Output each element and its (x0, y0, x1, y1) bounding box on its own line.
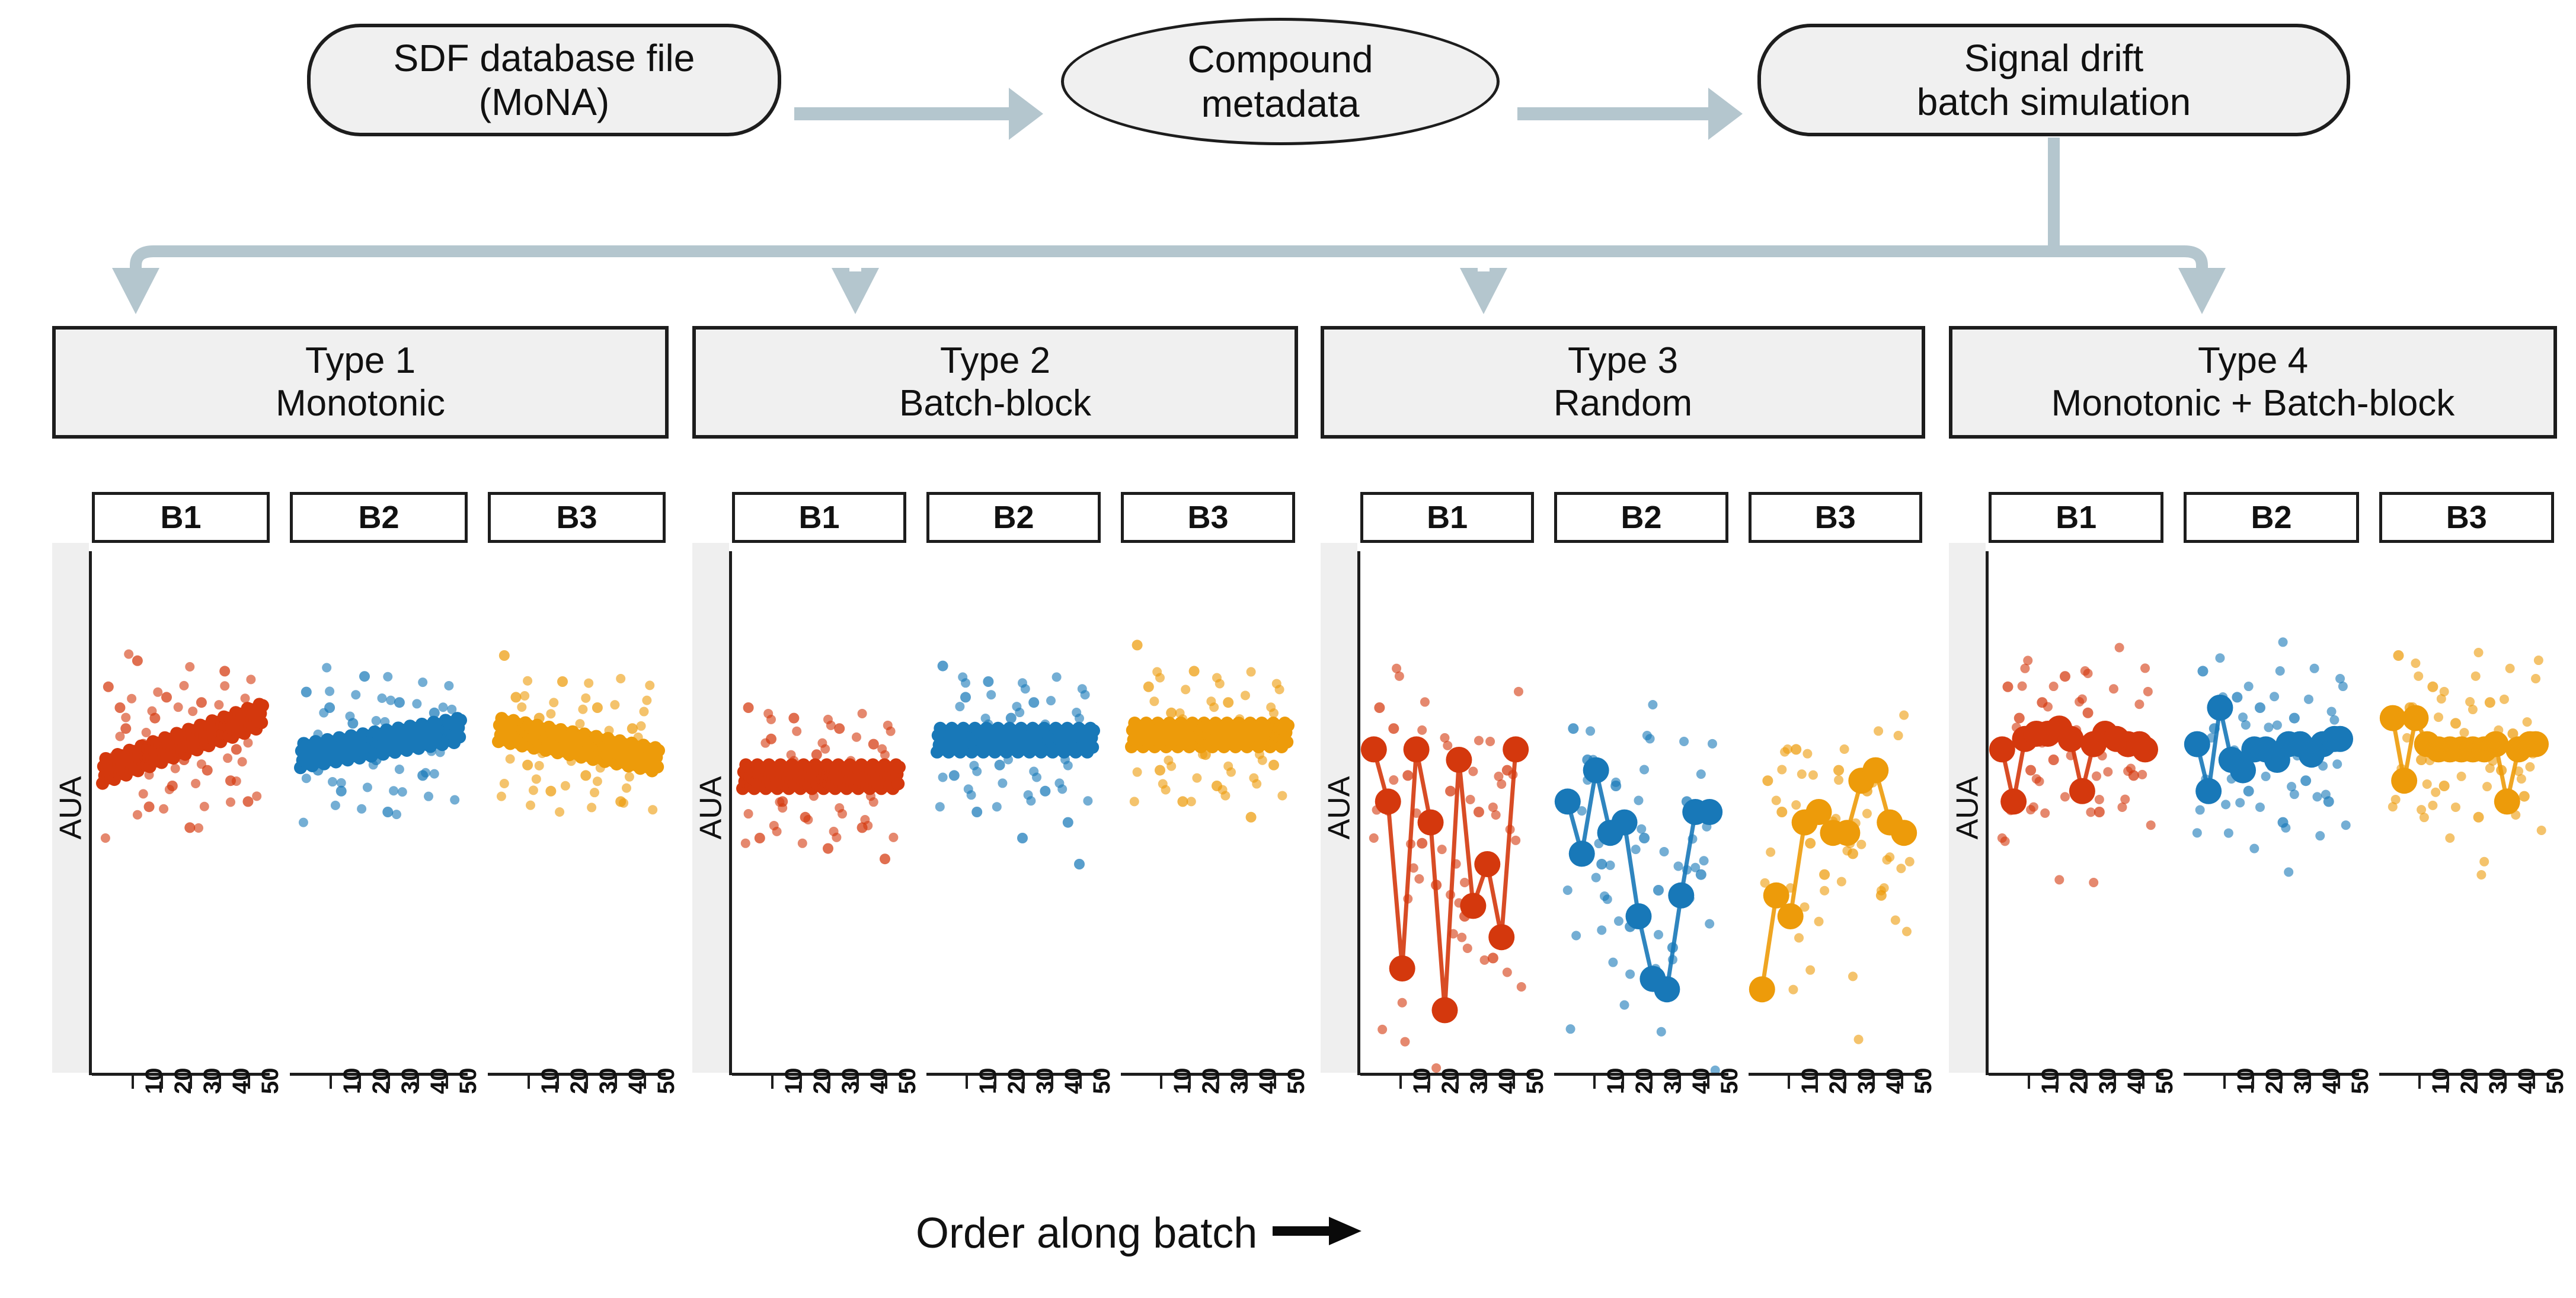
scatter-point (1517, 982, 1526, 992)
x-tick (528, 1076, 530, 1089)
plot-area-b2-panel-3 (1554, 551, 1728, 1073)
scatter-point (1212, 673, 1222, 682)
x-tick-label: 10 (1797, 1068, 1824, 1095)
x-tick-label: 50 (894, 1068, 921, 1095)
scatter-point (1018, 678, 1027, 688)
scatter-point (500, 779, 509, 788)
x-tick (1707, 1076, 1709, 1089)
scatter-point (1480, 955, 1490, 965)
type-4-title: Type 4 (2198, 340, 2308, 382)
data-point (2195, 778, 2222, 804)
facet-b2-panel-1: B21020304050 (290, 492, 468, 1144)
scatter-point (2049, 682, 2059, 691)
facet-strip-label-b2: B2 (1554, 492, 1728, 543)
scatter-point (382, 807, 393, 817)
data-point (891, 777, 905, 790)
data-point (1669, 883, 1695, 909)
scatter-point (1468, 767, 1478, 776)
scatter-point (101, 833, 110, 843)
type-box-type-1[interactable]: Type 1 Monotonic (52, 326, 669, 439)
scatter-point (2422, 779, 2431, 789)
data-point (2391, 768, 2417, 794)
scatter-point (648, 805, 657, 814)
scatter-point (787, 750, 796, 760)
x-tick-label: 40 (1882, 1068, 1909, 1095)
x-tick (1593, 1076, 1596, 1089)
scatter-point (331, 801, 340, 810)
scatter-point (1166, 708, 1177, 718)
scatter-point (1149, 696, 1159, 706)
facet-b1-panel-1: B11020304050 (92, 492, 270, 1144)
scatter-point (1777, 765, 1786, 774)
x-tick-label: 30 (1226, 1068, 1253, 1095)
scatter-point (616, 674, 625, 683)
scatter-point (1374, 702, 1385, 713)
x-tick-label: 30 (1660, 1068, 1686, 1095)
scatter-point (622, 784, 631, 793)
scatter-point (1177, 796, 1188, 807)
scatter-point (2216, 653, 2225, 663)
plot-panel-4: AUAB11020304050B21020304050B31020304050 (1949, 492, 2557, 1144)
scatter-point (394, 697, 405, 708)
scatter-point (1388, 723, 1399, 734)
x-axis-label: Order along batch (916, 1209, 1361, 1258)
scatter-point (2195, 805, 2205, 815)
scatter-point (1189, 666, 1200, 676)
scatter-point (1614, 916, 1623, 926)
scatter-point (1164, 756, 1173, 765)
plot-area-b2-panel-1 (290, 551, 468, 1073)
scatter-point (2264, 722, 2274, 732)
scatter-point (2089, 878, 2098, 887)
scatter-point (981, 714, 990, 723)
x-tick-label: 50 (1283, 1068, 1310, 1095)
x-tick-label: 50 (1089, 1068, 1116, 1095)
plot-panel-2: AUAB11020304050B21020304050B31020304050 (692, 492, 1298, 1144)
scatter-point (2321, 790, 2331, 800)
x-tick-label: 50 (455, 1068, 482, 1095)
scatter-point (127, 694, 136, 704)
scatter-point (1839, 744, 1849, 754)
x-tick (1217, 1076, 1219, 1089)
scatter-point (2428, 801, 2437, 810)
scatter-point (2284, 867, 2294, 877)
x-tick (586, 1076, 588, 1089)
scatter-point (958, 672, 967, 682)
scatter-point (246, 674, 255, 684)
data-point (1569, 840, 1595, 867)
scatter-svg-b1 (1360, 551, 1534, 1073)
x-tick-label: 10 (2428, 1068, 2454, 1095)
x-tick-label: 50 (257, 1068, 284, 1095)
scatter-svg-b3 (488, 551, 666, 1073)
scatter-point (868, 739, 879, 750)
scatter-point (2043, 702, 2053, 711)
scatter-point (637, 721, 646, 731)
scatter-point (424, 792, 433, 801)
scatter-point (852, 733, 861, 742)
data-point (1389, 955, 1415, 982)
x-tick-label: 40 (426, 1068, 453, 1095)
plot-area-b1-panel-1 (92, 551, 270, 1073)
scatter-point (986, 690, 996, 699)
scatter-point (214, 700, 223, 709)
scatter-point (1776, 807, 1787, 817)
data-point (1612, 810, 1638, 836)
scatter-point (345, 711, 354, 721)
scatter-point (159, 804, 168, 814)
scatter-point (2531, 674, 2540, 683)
data-point (1834, 820, 1860, 846)
scatter-point (1402, 770, 1413, 781)
scatter-point (2434, 712, 2443, 722)
scatter-point (557, 676, 568, 687)
scatter-point (2485, 697, 2495, 708)
scatter-point (450, 795, 459, 804)
data-point (1697, 799, 1723, 825)
scatter-point (938, 772, 948, 782)
scatter-point (1417, 838, 1427, 849)
data-point (2379, 705, 2405, 731)
arrow-to-type-4 (2178, 268, 2226, 314)
facet-strip-label-b1: B1 (732, 492, 906, 543)
scatter-point (2238, 712, 2248, 722)
scatter-point (1083, 796, 1092, 805)
facet-strip-label-b1: B1 (92, 492, 270, 543)
scatter-point (592, 702, 603, 713)
x-tick-label: 50 (653, 1068, 680, 1095)
flow-node-sdf-database-file[interactable]: SDF database file (MoNA) (307, 24, 781, 136)
flow-node-signal-drift-batch-simulation[interactable]: Signal drift batch simulation (1757, 24, 2350, 136)
x-tick-label: 30 (1466, 1068, 1492, 1095)
scatter-point (114, 702, 125, 713)
scatter-point (242, 796, 253, 807)
x-tick (2533, 1076, 2535, 1089)
scatter-point (2193, 828, 2202, 837)
scatter-point (969, 761, 979, 771)
data-point (1654, 976, 1680, 1002)
scatter-point (2143, 687, 2153, 696)
x-tick (2223, 1076, 2226, 1089)
scatter-point (858, 709, 867, 718)
scatter-point (1460, 878, 1469, 887)
scatter-point (1132, 640, 1143, 650)
scatter-point (741, 839, 750, 848)
scatter-point (1766, 848, 1775, 857)
scatter-svg-b3 (1749, 551, 1922, 1073)
scatter-point (139, 789, 148, 798)
scatter-point (2465, 697, 2475, 706)
plot-area-b3-panel-1 (488, 551, 666, 1073)
arrow-to-type-3 (1460, 268, 1507, 314)
data-point (1749, 976, 1775, 1002)
scatter-point (2255, 803, 2265, 812)
x-tick (417, 1076, 419, 1089)
data-point (1626, 903, 1652, 929)
facet-strip-label-b3: B3 (1121, 492, 1295, 543)
scatter-point (1679, 737, 1689, 746)
type-2-subtitle: Batch-block (899, 382, 1091, 425)
data-point (2523, 731, 2549, 757)
scatter-point (590, 788, 599, 797)
scatter-point (1853, 1035, 1863, 1044)
scatter-point (372, 716, 381, 725)
scatter-point (1820, 886, 1829, 896)
scatter-point (2438, 781, 2449, 791)
x-tick-label: 30 (2485, 1068, 2511, 1095)
scatter-point (1653, 885, 1664, 896)
scatter-point (1691, 863, 1701, 872)
scatter-point (1514, 687, 1523, 696)
scatter-point (1805, 838, 1816, 849)
scatter-point (2000, 836, 2010, 846)
scatter-point (1780, 747, 1789, 757)
x-tick (446, 1076, 448, 1089)
data-point (1280, 736, 1293, 749)
scatter-point (1639, 833, 1650, 843)
x-tick-label: 20 (1198, 1068, 1225, 1095)
flow-node-sim-line-2: batch simulation (1917, 80, 2191, 124)
type-box-type-2[interactable]: Type 2 Batch-block (692, 326, 1298, 439)
scatter-point (238, 757, 247, 766)
scatter-point (1028, 697, 1039, 708)
data-point (1555, 788, 1581, 814)
scatter-point (174, 702, 183, 712)
scatter-point (2310, 664, 2319, 673)
scatter-point (883, 721, 893, 730)
x-tick (1485, 1076, 1487, 1089)
scatter-point (1223, 697, 1233, 708)
scatter-point (584, 679, 593, 688)
x-tick (1872, 1076, 1875, 1089)
scatter-point (1645, 734, 1655, 743)
x-tick-label: 30 (1853, 1068, 1880, 1095)
scatter-point (337, 778, 346, 788)
scatter-point (1246, 812, 1257, 823)
scatter-point (1192, 773, 1201, 783)
scatter-point (497, 792, 506, 801)
x-tick (2309, 1076, 2311, 1089)
scatter-point (769, 821, 779, 830)
scatter-point (1074, 859, 1085, 869)
x-tick (190, 1076, 192, 1089)
type-box-type-3[interactable]: Type 3 Random (1321, 326, 1925, 439)
data-point (1583, 757, 1609, 784)
scatter-point (1054, 778, 1064, 788)
scatter-point (2080, 666, 2090, 676)
flow-node-sdf-line-1: SDF database file (394, 36, 695, 80)
y-axis-label-strip-4: AUA (1949, 543, 1986, 1073)
scatter-point (2221, 800, 2230, 809)
scatter-point (499, 650, 510, 661)
scatter-point (610, 700, 619, 709)
scatter-point (252, 791, 261, 801)
data-point (2494, 788, 2520, 814)
x-tick (248, 1076, 250, 1089)
x-tick-label: 40 (1255, 1068, 1281, 1095)
scatter-point (949, 770, 960, 781)
data-point (1777, 903, 1803, 929)
scatter-point (1052, 672, 1062, 682)
scatter-point (115, 731, 124, 741)
scatter-point (2040, 808, 2050, 818)
x-tick-label: 30 (1032, 1068, 1059, 1095)
x-tick (1513, 1076, 1515, 1089)
scatter-point (1503, 968, 1512, 977)
scatter-point (444, 681, 453, 690)
scatter-point (1268, 760, 1279, 771)
scatter-point (2473, 648, 2483, 657)
scatter-point (1848, 971, 1858, 981)
scatter-point (1437, 845, 1447, 854)
type-box-type-4[interactable]: Type 4 Monotonic + Batch-block (1949, 326, 2557, 439)
x-axis-label-text: Order along batch (916, 1209, 1257, 1258)
scatter-svg-b3 (2379, 551, 2554, 1073)
x-tick-label: 10 (1603, 1068, 1629, 1095)
scatter-point (2095, 795, 2104, 804)
scatter-point (2278, 637, 2288, 647)
x-tick-label: 30 (2290, 1068, 2316, 1095)
scatter-point (803, 815, 813, 824)
x-tick-label: 20 (2456, 1068, 2483, 1095)
x-tick (1022, 1076, 1025, 1089)
scatter-point (1771, 795, 1781, 805)
scatter-point (2273, 720, 2282, 730)
figure-root: SDF database file (MoNA) Compound metada… (0, 0, 2576, 1298)
scatter-point (2534, 656, 2543, 665)
y-axis-label-text-2: AUA (693, 776, 728, 840)
scatter-point (2304, 695, 2313, 704)
scatter-point (184, 822, 195, 833)
scatter-point (2287, 782, 2296, 791)
scatter-point (1794, 933, 1804, 942)
scatter-point (2414, 672, 2423, 681)
x-tick (885, 1076, 887, 1089)
scatter-point (1440, 733, 1449, 743)
x-tick (219, 1076, 221, 1089)
scatter-point (223, 753, 232, 763)
scatter-point (1494, 772, 1503, 781)
x-tick-label: 10 (2233, 1068, 2259, 1095)
scatter-point (1474, 807, 1484, 817)
scatter-point (144, 801, 155, 812)
scatter-point (877, 744, 887, 754)
scatter-point (2333, 759, 2342, 769)
scatter-point (983, 676, 993, 687)
scatter-point (2519, 791, 2529, 802)
scatter-point (526, 801, 535, 810)
scatter-point (1024, 790, 1033, 800)
scatter-point (363, 782, 372, 792)
scatter-point (1277, 791, 1287, 800)
x-tick (1456, 1076, 1459, 1089)
scatter-point (555, 807, 564, 817)
x-tick-label: 20 (1437, 1068, 1464, 1095)
x-tick-label: 50 (1910, 1068, 1937, 1095)
scatter-point (1206, 696, 1216, 706)
scatter-point (1637, 824, 1647, 834)
scatter-point (2094, 807, 2105, 817)
scatter-point (998, 778, 1007, 788)
scatter-point (510, 692, 521, 702)
scatter-point (549, 698, 558, 707)
scatter-point (1012, 702, 1021, 711)
x-tick-label: 20 (2066, 1068, 2092, 1095)
scatter-point (2032, 774, 2041, 784)
scatter-point (1006, 713, 1017, 724)
x-tick-label: 40 (866, 1068, 893, 1095)
scatter-point (971, 807, 982, 817)
x-tick (1816, 1076, 1818, 1089)
scatter-point (1837, 877, 1846, 886)
scatter-point (639, 707, 648, 717)
data-point (1431, 997, 1458, 1023)
data-point (2058, 726, 2084, 752)
scatter-point (398, 787, 407, 797)
scatter-point (2236, 798, 2245, 807)
x-tick-label: 20 (170, 1068, 197, 1095)
data-point (1404, 736, 1430, 762)
scatter-svg-b1 (732, 551, 906, 1073)
x-tick (1188, 1076, 1191, 1089)
scatter-point (2525, 762, 2535, 772)
x-tick-label: 40 (228, 1068, 255, 1095)
scatter-point (2522, 717, 2532, 727)
scatter-point (2500, 695, 2509, 704)
scatter-point (2075, 697, 2084, 706)
scatter-svg-b2 (926, 551, 1101, 1073)
scatter-point (319, 708, 328, 718)
x-tick-label: 10 (1169, 1068, 1196, 1095)
x-tick (828, 1076, 830, 1089)
scatter-point (2224, 829, 2233, 838)
facet-strip-label-b2: B2 (926, 492, 1101, 543)
x-tick (1788, 1076, 1790, 1089)
x-tick (1245, 1076, 1248, 1089)
scatter-point (2473, 812, 2484, 823)
y-axis-label-text-4: AUA (1949, 776, 1985, 840)
scatter-point (2300, 775, 2311, 786)
scatter-point (241, 693, 250, 703)
x-tick-label: 40 (2514, 1068, 2540, 1095)
type-3-title: Type 3 (1568, 340, 1678, 382)
scatter-point (1488, 803, 1498, 812)
scatter-point (2232, 692, 2243, 702)
scatter-point (1705, 919, 1715, 929)
x-tick-label: 20 (1825, 1068, 1852, 1095)
flow-node-compound-metadata[interactable]: Compound metadata (1061, 18, 1500, 145)
scatter-point (2243, 786, 2254, 797)
x-tick-label: 40 (2318, 1068, 2345, 1095)
scatter-point (121, 713, 130, 722)
scatter-point (517, 702, 526, 712)
scatter-point (2393, 650, 2404, 661)
scatter-point (522, 760, 533, 771)
scatter-point (1606, 861, 1615, 870)
scatter-point (153, 688, 162, 697)
scatter-point (1511, 836, 1520, 845)
x-tick-label: 30 (838, 1068, 864, 1095)
scatter-point (386, 696, 395, 705)
data-point (651, 760, 664, 773)
scatter-point (2255, 702, 2265, 713)
scatter-point (1133, 768, 1142, 777)
scatter-point (1130, 797, 1139, 806)
scatter-point (196, 697, 207, 708)
right-arrow-svg (1273, 1214, 1361, 1248)
facet-strip-label-b3: B3 (488, 492, 666, 543)
scatter-point (2060, 671, 2070, 682)
